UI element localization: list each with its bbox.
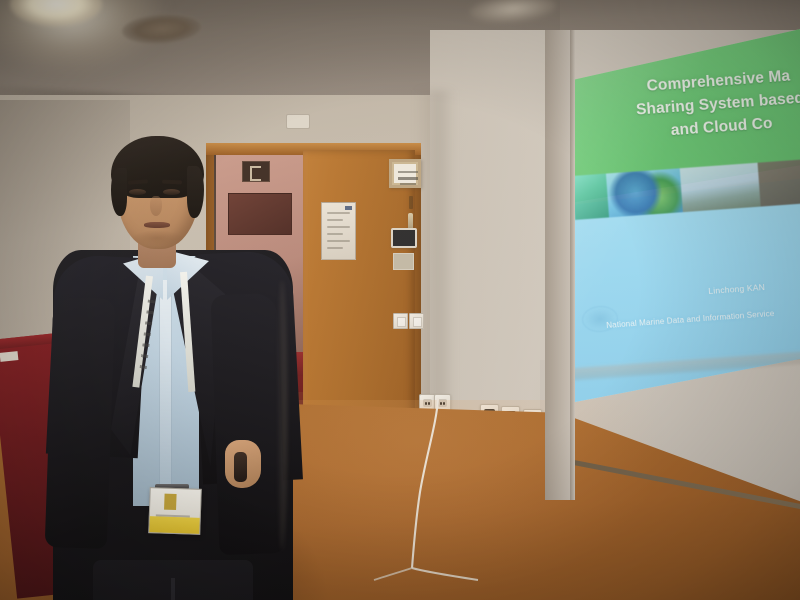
- framed-sign-inner: [394, 164, 416, 183]
- notice-line: [327, 233, 343, 235]
- hair-side-left: [111, 168, 127, 216]
- slide-photo-city: [680, 163, 761, 212]
- name-badge: [148, 487, 202, 535]
- jacket-arm-left: [45, 297, 116, 549]
- framed-wall-sign: [389, 159, 421, 188]
- notice-logo-icon: [345, 206, 352, 210]
- notice-line: [327, 219, 343, 221]
- jacket-arm-right: [210, 293, 285, 555]
- framed-sign-line: [398, 177, 418, 180]
- slide-photo-globe: [606, 168, 683, 217]
- notice-line: [327, 212, 350, 214]
- framed-sign-line: [400, 183, 416, 185]
- projection-screen: Comprehensive Ma Sharing System based an…: [570, 28, 800, 403]
- left-table-paper: [0, 351, 18, 362]
- photo-scene: Comprehensive Ma Sharing System based an…: [0, 0, 800, 600]
- presenter: [45, 130, 315, 600]
- nose: [150, 196, 162, 216]
- framed-sign-line: [398, 171, 418, 173]
- door-hinge-upper: [409, 196, 413, 209]
- rim-light: [277, 280, 287, 550]
- light-switch-left[interactable]: [393, 313, 408, 329]
- notice-line: [327, 247, 343, 249]
- wall-access-panel: [393, 253, 414, 270]
- badge-logo-icon: [164, 494, 177, 510]
- trouser-seam: [171, 578, 175, 600]
- ceiling-vent: [286, 114, 310, 129]
- slide-photo-dark: [758, 158, 800, 206]
- slide-photo-ocean: [572, 174, 609, 220]
- room-booking-panel[interactable]: [391, 228, 417, 248]
- projected-slide: Comprehensive Ma Sharing System based an…: [570, 28, 800, 403]
- badge-color-band: [149, 516, 200, 534]
- notice-line: [327, 240, 350, 242]
- door-notice-sheet: [321, 202, 356, 260]
- presentation-clicker[interactable]: [234, 452, 247, 482]
- wall-pillar-edge: [570, 30, 575, 500]
- shirt-placket: [159, 280, 172, 506]
- light-switch-right[interactable]: [409, 313, 424, 329]
- eye-right: [163, 189, 180, 195]
- eye-left: [129, 189, 146, 195]
- chin-shadow: [131, 230, 183, 246]
- notice-line: [327, 226, 350, 228]
- mouth: [144, 222, 170, 228]
- power-cable: [390, 396, 520, 576]
- hair-side-right: [187, 166, 204, 218]
